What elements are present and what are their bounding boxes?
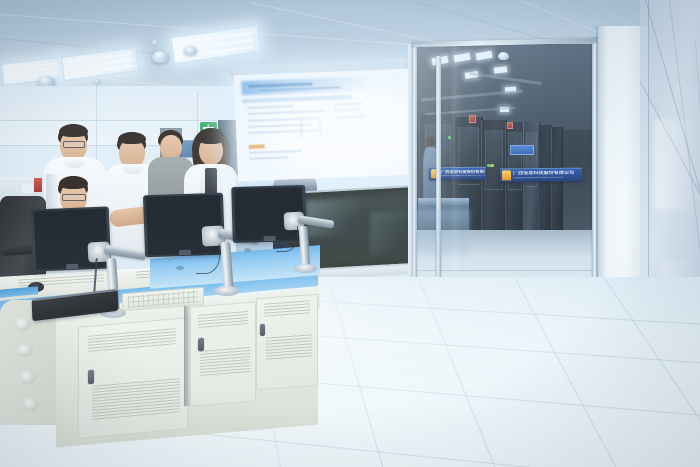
server-room-dome-detector: [498, 52, 509, 60]
server-room-floor-seam: [414, 270, 596, 271]
hair-top: [118, 132, 146, 144]
glass-mullion-left: [412, 44, 417, 296]
banner-main-text: 广西信息科技股份有限公司: [441, 170, 485, 175]
server-rack-4: [505, 122, 525, 248]
glasses: [63, 141, 85, 148]
cabinet-vent-center-bottom: [200, 346, 250, 376]
wall-seam: [0, 120, 250, 121]
side-panel-dimple-3: [19, 371, 36, 384]
glasses: [62, 194, 86, 201]
banner-sub-text: GUANGXI INFORMATION TECHNOLOGY CO., LTD.: [441, 175, 485, 178]
dome-detector-right: [184, 46, 197, 55]
fire-alarm-box-1: [469, 115, 476, 123]
monitor-center-arm-base: [214, 286, 239, 296]
pillar-edge-shadow: [596, 26, 599, 318]
side-panel-dimple-2: [16, 344, 33, 357]
server-rack-7: [551, 127, 564, 238]
hair-top: [59, 124, 88, 137]
cable-grommet-2: [244, 248, 251, 252]
control-room-photograph: 广西信息科技股份有限公司 GUANGXI INFORMATION TECHNOL…: [0, 0, 700, 467]
shield-emblem-icon: [502, 170, 511, 180]
glass-reflected-desk: [416, 210, 470, 256]
banner-main-text: 广西信息科技股份有限公司: [513, 170, 574, 176]
side-panel-dimple-1: [14, 318, 31, 331]
hair-top: [197, 128, 225, 144]
cabinet-handle-center[interactable]: [198, 338, 204, 351]
cabinet-vent-right-bottom: [266, 332, 312, 359]
hair-top: [59, 176, 88, 189]
collar: [64, 157, 85, 168]
fire-alarm-box-2: [507, 122, 513, 129]
monitor-right-arm-base: [294, 264, 317, 273]
sprinkler-head: [93, 78, 101, 85]
collar: [123, 164, 143, 174]
cabinet-gap-shadow: [184, 300, 190, 406]
shelf-item-white: [22, 184, 33, 193]
company-banner-right: 广西信息科技股份有限公司 GUANGXI INFORMATION TECHNOL…: [500, 168, 582, 183]
cabinet-handle-right[interactable]: [260, 324, 265, 336]
cabinet-handle-left[interactable]: [88, 370, 94, 385]
cable-grommet-1: [176, 266, 184, 270]
technician-head: [426, 137, 435, 146]
side-panel-dimple-4: [22, 398, 39, 411]
shelf-item-red: [34, 178, 42, 192]
banner-sub-text: GUANGXI INFORMATION TECHNOLOGY CO., LTD.: [513, 176, 574, 179]
projection-screen: [234, 69, 415, 182]
glass-mullion-center: [436, 56, 441, 292]
rack-info-panel: [510, 145, 534, 155]
dome-detector-mid: [152, 51, 169, 63]
sprinkler-head-2: [152, 40, 158, 45]
